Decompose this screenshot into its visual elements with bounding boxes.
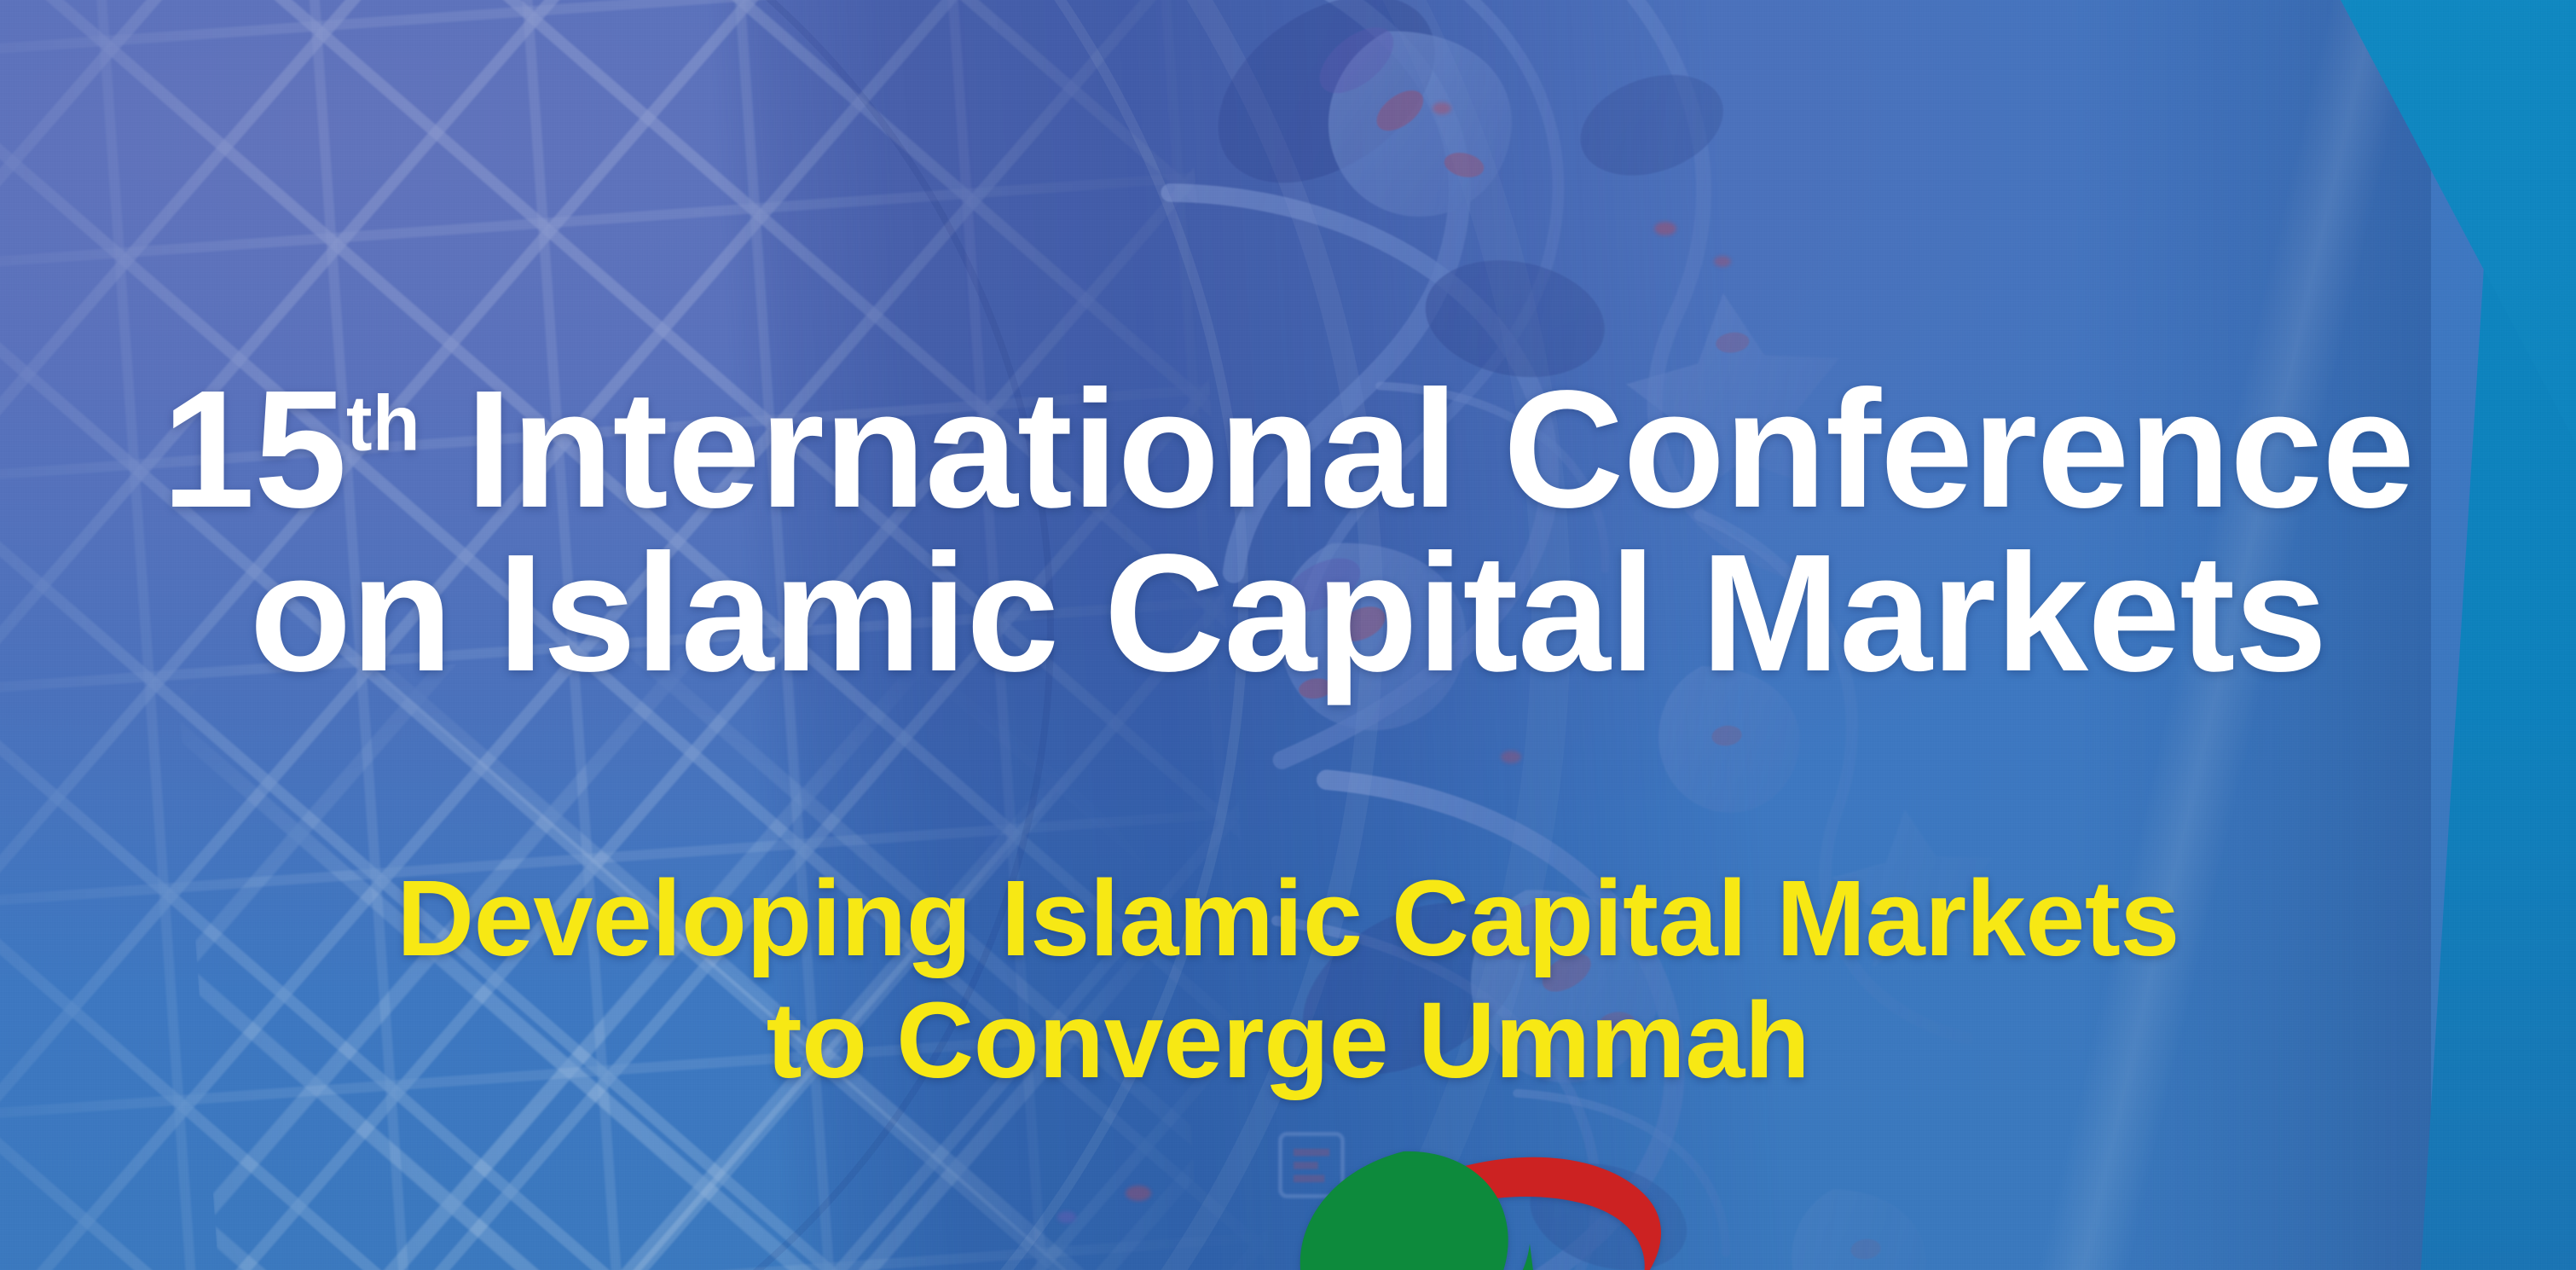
title-line1-rest: International Conference xyxy=(420,356,2414,542)
conference-subtitle-line2: to Converge Ummah xyxy=(0,979,2576,1102)
ordinal-suffix: th xyxy=(346,380,420,467)
ordinal-number: 15 xyxy=(162,356,346,542)
conference-logo xyxy=(1236,1116,1714,1270)
conference-subtitle-line1: Developing Islamic Capital Markets xyxy=(0,857,2576,980)
text-layer: 15th International Conference on Islamic… xyxy=(0,0,2576,1270)
conference-title: 15th International Conference on Islamic… xyxy=(0,368,2576,695)
conference-title-line1: 15th International Conference xyxy=(0,368,2576,531)
conference-subtitle: Developing Islamic Capital Markets to Co… xyxy=(0,857,2576,1102)
conference-banner: 15th International Conference on Islamic… xyxy=(0,0,2576,1270)
conference-title-line2: on Islamic Capital Markets xyxy=(0,531,2576,695)
